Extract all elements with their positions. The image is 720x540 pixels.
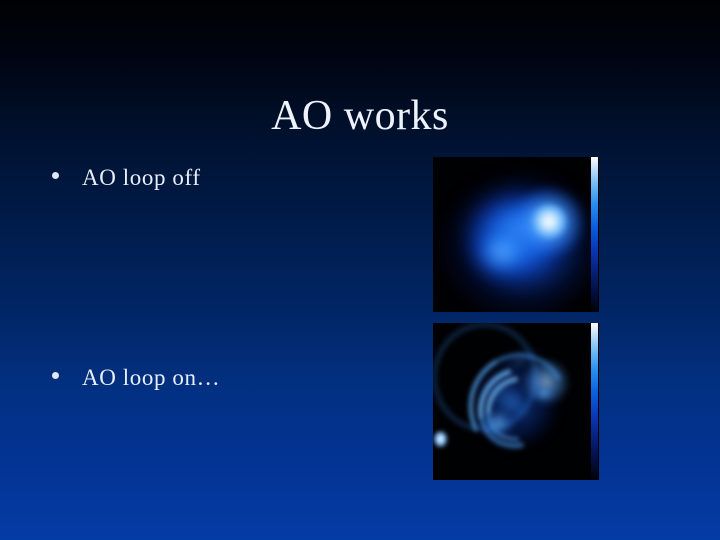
vertical-colorbar [591,157,598,312]
ao-loop-off-canvas [433,157,591,312]
page-title: AO works [0,90,720,142]
blurred-bridge [484,189,564,265]
nebulous-halo [433,163,591,312]
bright-knot-core [532,205,566,238]
bullet-label: AO loop on… [82,363,220,393]
presentation-slide: AO works AO loop off AO loop on… [0,0,720,540]
bullet-label: AO loop off [82,163,201,193]
blurred-source-body [461,181,577,289]
bullet-item-ao-loop-on: AO loop on… [52,363,220,393]
bright-spot-tail [533,387,555,400]
vertical-colorbar [591,323,598,480]
ao-loop-on-canvas [433,323,591,480]
ao-loop-off-image [433,157,599,312]
blurred-lobe [469,223,535,281]
disk-limb-ring [433,323,537,431]
bright-spot-core [433,431,448,449]
bullet-dot-icon [52,172,59,179]
bullet-dot-icon [52,372,59,379]
bullet-item-ao-loop-off: AO loop off [52,163,201,193]
bright-knot-halo [515,189,583,255]
ao-loop-on-image [433,323,599,480]
